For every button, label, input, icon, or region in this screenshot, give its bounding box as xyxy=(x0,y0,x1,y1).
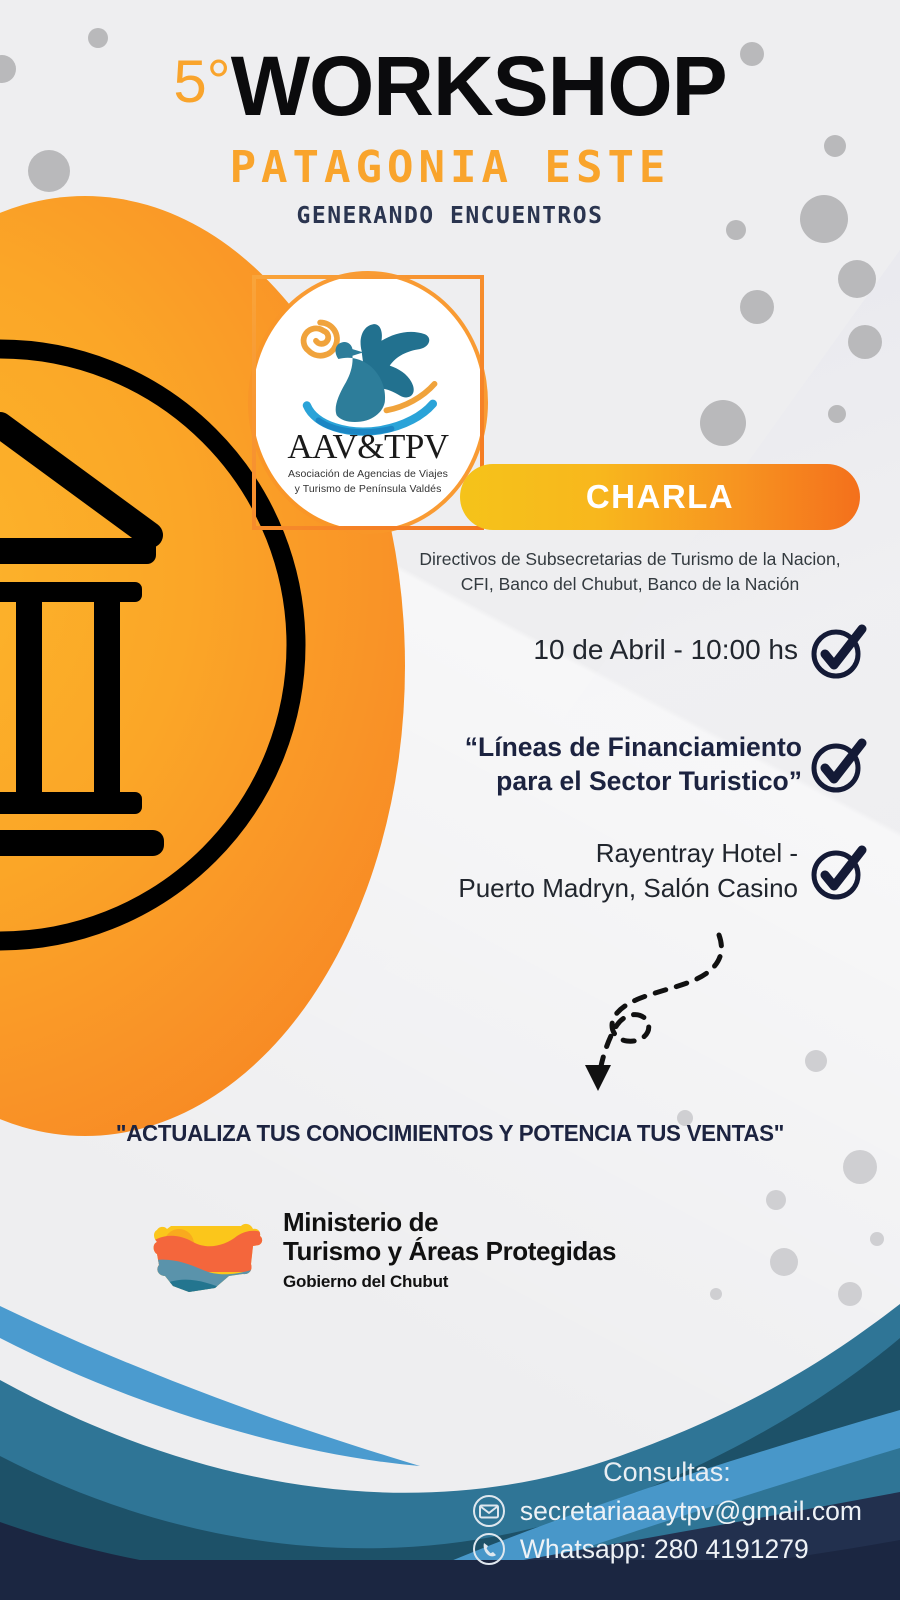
aav-tpv-logo: AAV&TPV Asociación de Agencias de Viajes… xyxy=(252,275,484,530)
contact-whatsapp-row[interactable]: Whatsapp: 280 4191279 xyxy=(472,1532,862,1566)
poster-canvas: 5° WORKSHOP PATAGONIA ESTE GENERANDO ENC… xyxy=(0,0,900,1600)
logo-desc-line2: y Turismo de Península Valdés xyxy=(256,483,480,495)
logo-name: AAV&TPV xyxy=(256,427,480,467)
venue-line-1: Rayentray Hotel - xyxy=(458,836,798,871)
charla-banner: CHARLA xyxy=(460,464,860,530)
check-circle-icon xyxy=(806,839,870,903)
check-circle-icon xyxy=(806,732,870,796)
edition-number: 5° xyxy=(173,52,230,112)
contact-email-text[interactable]: secretariaaaytpv@gmail.com xyxy=(520,1496,862,1527)
dashed-curved-arrow-icon xyxy=(555,925,775,1100)
phone-icon xyxy=(472,1532,506,1566)
sun-icon xyxy=(304,322,337,355)
date-time-text: 10 de Abril - 10:00 hs xyxy=(533,634,802,666)
logo-artwork xyxy=(287,299,453,442)
slogan-text: "ACTUALIZA TUS CONOCIMIENTOS Y POTENCIA … xyxy=(23,1120,878,1147)
detail-row-talk-title: “Líneas de Financiamiento para el Sector… xyxy=(400,730,870,799)
poster-subtitle: PATAGONIA ESTE xyxy=(0,142,900,193)
speakers-line-1: Directivos de Subsecretarias de Turismo … xyxy=(395,547,865,572)
speakers-text: Directivos de Subsecretarias de Turismo … xyxy=(395,547,865,598)
speakers-line-2: CFI, Banco del Chubut, Banco de la Nació… xyxy=(395,572,865,597)
envelope-icon xyxy=(472,1494,506,1528)
venue-line-2: Puerto Madryn, Salón Casino xyxy=(458,871,798,906)
page-title: WORKSHOP xyxy=(231,44,727,128)
talk-title-text: “Líneas de Financiamiento para el Sector… xyxy=(465,730,802,799)
talk-title-line-2: para el Sector Turistico” xyxy=(465,764,802,798)
detail-row-venue: Rayentray Hotel - Puerto Madryn, Salón C… xyxy=(390,836,870,906)
poster-header: 5° WORKSHOP PATAGONIA ESTE GENERANDO ENC… xyxy=(0,44,900,229)
charla-label: CHARLA xyxy=(586,478,734,516)
detail-row-date: 10 de Abril - 10:00 hs xyxy=(400,618,870,682)
talk-title-line-1: “Líneas de Financiamiento xyxy=(465,730,802,764)
poster-tagline-small: GENERANDO ENCUENTROS xyxy=(0,203,900,229)
contact-heading: Consultas: xyxy=(472,1457,862,1488)
ministry-line-1: Ministerio de xyxy=(283,1208,616,1237)
check-circle-icon xyxy=(806,618,870,682)
contact-whatsapp-text[interactable]: Whatsapp: 280 4191279 xyxy=(520,1534,809,1565)
contact-email-row[interactable]: secretariaaaytpv@gmail.com xyxy=(472,1494,862,1528)
venue-text: Rayentray Hotel - Puerto Madryn, Salón C… xyxy=(458,836,802,906)
logo-desc-line1: Asociación de Agencias de Viajes xyxy=(256,468,480,480)
contact-block: Consultas: secretariaaaytpv@gmail.com Wh… xyxy=(472,1457,862,1566)
